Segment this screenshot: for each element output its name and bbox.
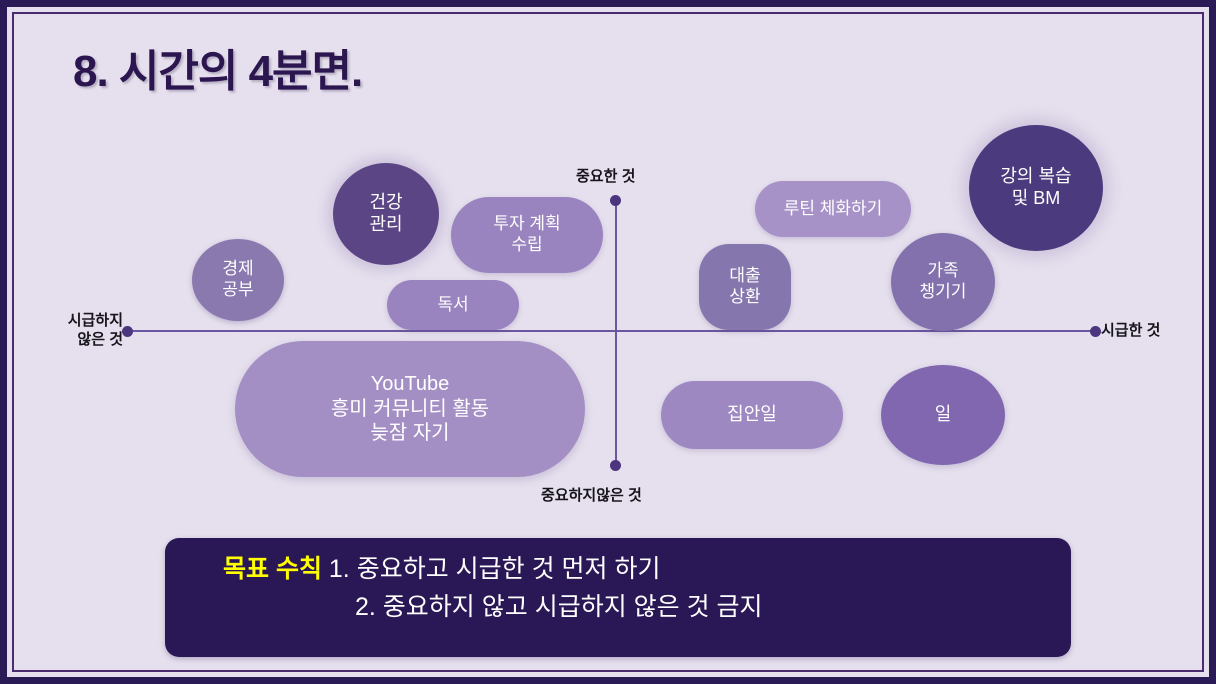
axis-dot-top — [610, 195, 621, 206]
bubble-loan-repayment[interactable]: 대출 상환 — [699, 244, 791, 330]
bubble-family-care[interactable]: 가족 챙기기 — [891, 233, 995, 331]
axis-dot-right — [1090, 326, 1101, 337]
bubble-economy-study[interactable]: 경제 공부 — [192, 239, 284, 321]
page-title: 8. 시간의 4분면. — [73, 35, 362, 99]
bubble-lecture-review-bm[interactable]: 강의 복습 및 BM — [969, 125, 1103, 251]
axis-dot-bottom — [610, 460, 621, 471]
slide-canvas: 8. 시간의 4분면. 시급하지 않은 것 시급한 것 중요한 것 중요하지않은… — [0, 0, 1216, 684]
axis-label-not-urgent: 시급하지 않은 것 — [45, 312, 123, 350]
axis-label-important: 중요한 것 — [576, 168, 635, 187]
vertical-axis-line — [615, 200, 617, 466]
bubble-reading[interactable]: 독서 — [387, 280, 519, 330]
axis-label-not-important: 중요하지않은 것 — [541, 487, 642, 506]
bubble-investment-plan[interactable]: 투자 계획 수립 — [451, 197, 603, 273]
axis-dot-left — [122, 326, 133, 337]
goal-rules-banner: 목표 수칙 1. 중요하고 시급한 것 먼저 하기 2. 중요하지 않고 시급하… — [165, 538, 1071, 657]
bubble-housework[interactable]: 집안일 — [661, 381, 843, 449]
goal-rules-line-2: 2. 중요하지 않고 시급하지 않은 것 금지 — [165, 588, 1071, 626]
goal-rules-line-1: 목표 수칙 1. 중요하고 시급한 것 먼저 하기 — [165, 550, 1071, 588]
bubble-youtube-leisure[interactable]: YouTube 흥미 커뮤니티 활동 늦잠 자기 — [235, 341, 585, 477]
axis-label-urgent: 시급한 것 — [1101, 322, 1160, 341]
goal-rules-text-1: 1. 중요하고 시급한 것 먼저 하기 — [322, 555, 661, 583]
bubble-health-care[interactable]: 건강 관리 — [333, 163, 439, 265]
goal-rules-highlight: 목표 수칙 — [223, 555, 322, 583]
bubble-routine-habit[interactable]: 루틴 체화하기 — [755, 181, 911, 237]
bubble-work[interactable]: 일 — [881, 365, 1005, 465]
